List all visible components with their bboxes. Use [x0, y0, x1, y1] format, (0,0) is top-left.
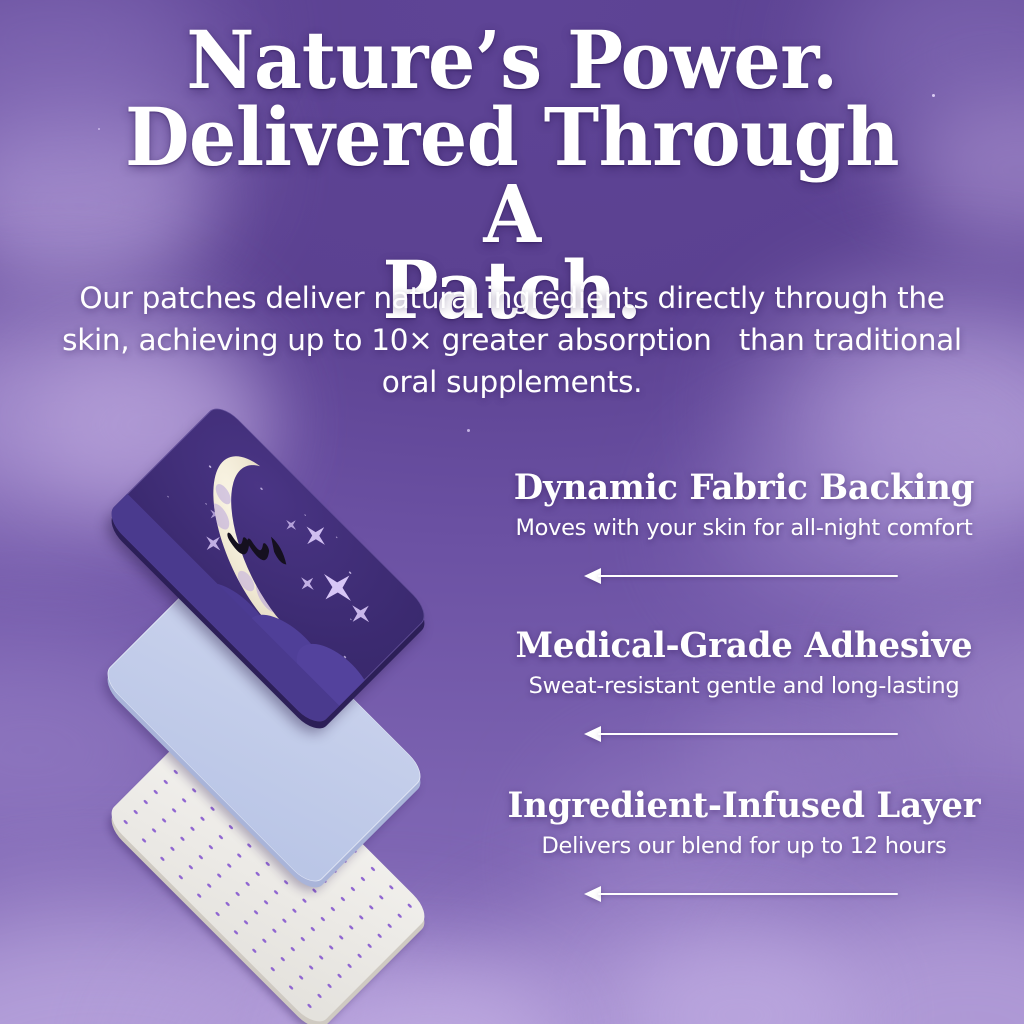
feature-subtitle: Delivers our blend for up to 12 hours [484, 833, 1004, 860]
feature-title: Medical-Grade Adhesive [492, 628, 996, 664]
infographic-canvas: Nature’s Power. Delivered Through A Patc… [0, 0, 1024, 1024]
star-speck [350, 618, 352, 620]
star-speck [336, 536, 338, 538]
arrow-shaft [598, 893, 898, 896]
sparkle-icon [344, 597, 377, 630]
feature-block-fabric-backing: Dynamic Fabric Backing Moves with your s… [484, 470, 1004, 584]
left-arrow-icon [584, 726, 904, 742]
feature-block-adhesive: Medical-Grade Adhesive Sweat-resistant g… [484, 628, 1004, 742]
left-arrow-icon [584, 886, 904, 902]
arrow-shaft [598, 575, 898, 578]
star-speck [348, 571, 351, 574]
arrow-shaft [598, 733, 898, 736]
feature-subtitle: Moves with your skin for all-night comfo… [484, 515, 1004, 542]
fabric-backing-layer-face [104, 401, 432, 729]
feature-block-ingredient: Ingredient-Infused Layer Delivers our bl… [484, 788, 1004, 902]
feature-title: Ingredient-Infused Layer [492, 788, 996, 824]
patch-layer-stack [0, 0, 520, 1024]
left-arrow-icon [584, 568, 904, 584]
moon-nightcap-tip [270, 536, 287, 564]
moon-eye-right [251, 544, 269, 558]
fabric-backing-layer-group [118, 415, 418, 715]
feature-title: Dynamic Fabric Backing [492, 470, 996, 506]
feature-subtitle: Sweat-resistant gentle and long-lasting [484, 673, 1004, 700]
